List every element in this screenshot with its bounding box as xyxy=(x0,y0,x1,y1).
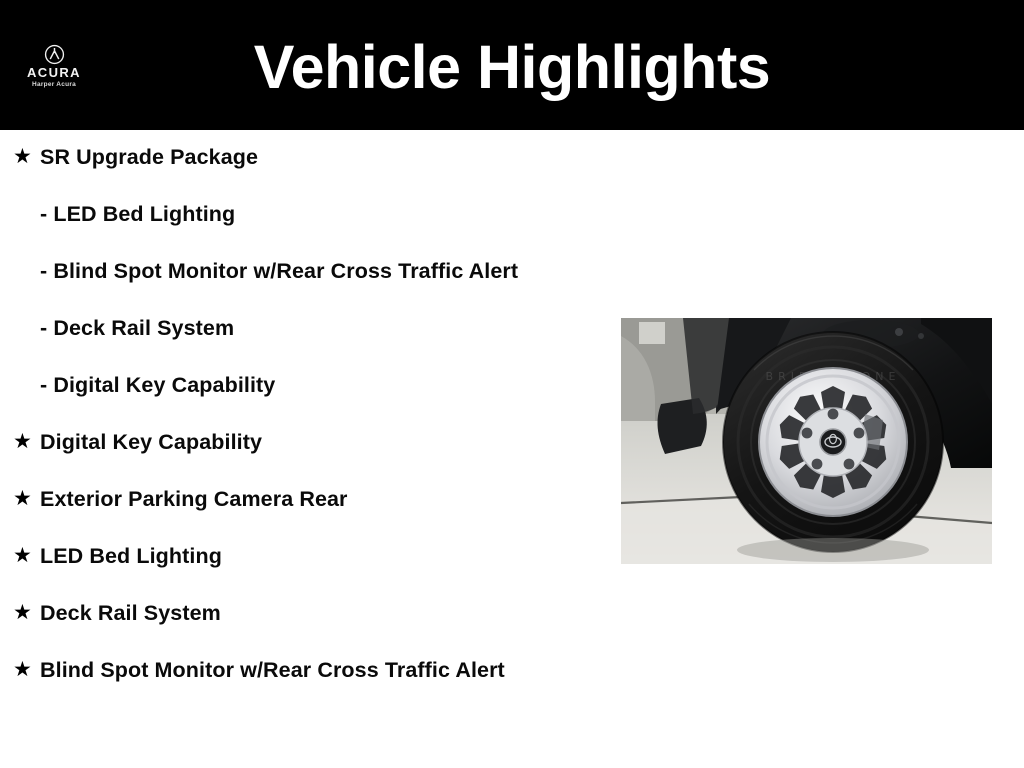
page-title: Vehicle Highlights xyxy=(0,31,1024,103)
star-bullet-icon: ★ xyxy=(13,427,32,456)
star-bullet-icon: ★ xyxy=(13,484,32,513)
bullet-label: - Digital Key Capability xyxy=(40,370,585,400)
bullet-label: - LED Bed Lighting xyxy=(40,199,585,229)
bullet-label: - Blind Spot Monitor w/Rear Cross Traffi… xyxy=(40,256,585,286)
sub-bullet-item: - Deck Rail System xyxy=(0,313,600,343)
bullet-label: SR Upgrade Package xyxy=(40,142,585,172)
bullet-item: ★SR Upgrade Package xyxy=(0,142,600,172)
bullet-item: ★Deck Rail System xyxy=(0,598,600,628)
vehicle-wheel-photo: BRIDGESTONE xyxy=(621,318,992,564)
star-bullet-icon: ★ xyxy=(13,598,32,627)
star-bullet-icon: ★ xyxy=(13,142,32,171)
bullet-label: Digital Key Capability xyxy=(40,427,585,457)
bullet-label: LED Bed Lighting xyxy=(40,541,585,571)
bullet-item: ★Digital Key Capability xyxy=(0,427,600,457)
star-bullet-icon: ★ xyxy=(13,655,32,684)
star-bullet-icon: ★ xyxy=(13,541,32,570)
slide: ACURA Harper Acura Vehicle Highlights ★S… xyxy=(0,0,1024,768)
highlights-list: ★SR Upgrade Package- LED Bed Lighting- B… xyxy=(0,142,600,712)
sub-bullet-item: - Digital Key Capability xyxy=(0,370,600,400)
bullet-label: Blind Spot Monitor w/Rear Cross Traffic … xyxy=(40,655,585,685)
slide-header: ACURA Harper Acura Vehicle Highlights xyxy=(0,0,1024,130)
bullet-label: Deck Rail System xyxy=(40,598,585,628)
bullet-label: Exterior Parking Camera Rear xyxy=(40,484,585,514)
vehicle-wheel-illustration: BRIDGESTONE xyxy=(621,318,992,564)
bullet-label: - Deck Rail System xyxy=(40,313,585,343)
sub-bullet-item: - LED Bed Lighting xyxy=(0,199,600,229)
bullet-item: ★Blind Spot Monitor w/Rear Cross Traffic… xyxy=(0,655,600,685)
bullet-item: ★Exterior Parking Camera Rear xyxy=(0,484,600,514)
bullet-item: ★LED Bed Lighting xyxy=(0,541,600,571)
sub-bullet-item: - Blind Spot Monitor w/Rear Cross Traffi… xyxy=(0,256,600,286)
